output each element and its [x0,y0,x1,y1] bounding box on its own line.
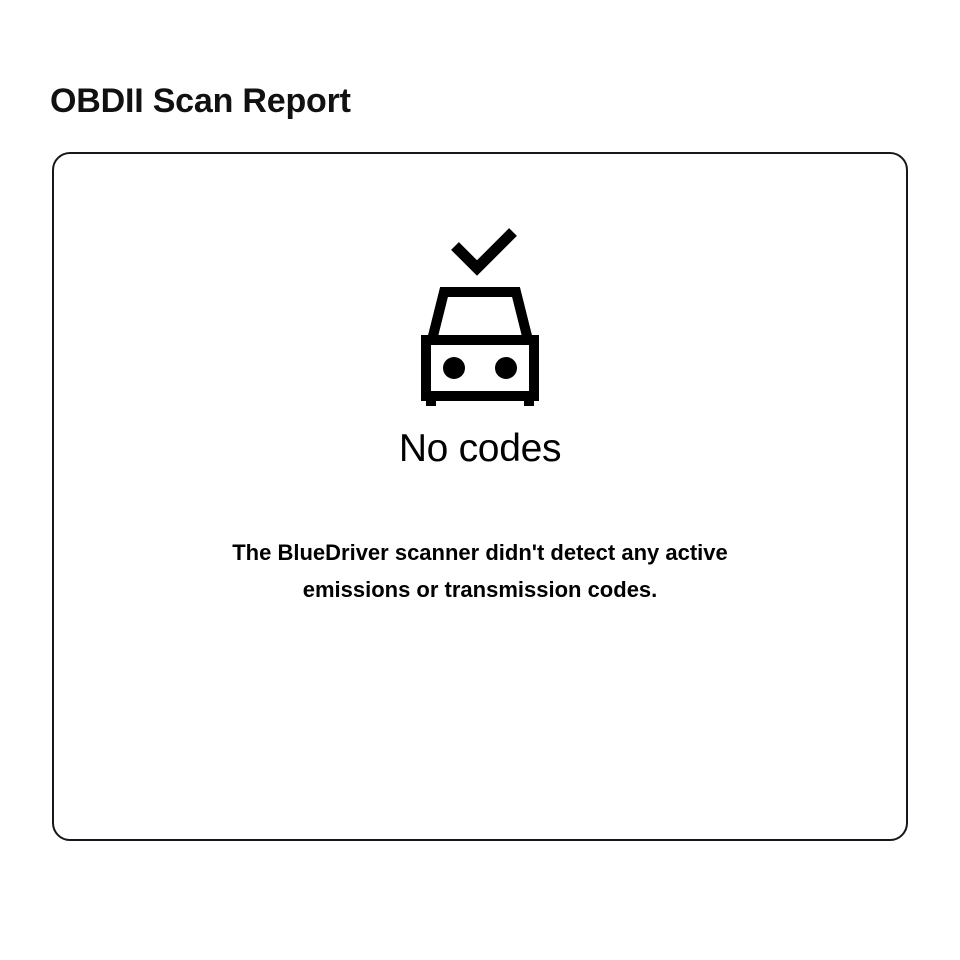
card-body: No codes The BlueDriver scanner didn't d… [54,154,906,608]
status-heading: No codes [399,426,561,472]
status-description-line-1: The BlueDriver scanner didn't detect any… [160,534,800,571]
car-with-checkmark-icon [400,226,560,406]
page-title: OBDII Scan Report [50,81,351,121]
status-description: The BlueDriver scanner didn't detect any… [160,534,800,608]
scan-report-card: No codes The BlueDriver scanner didn't d… [52,152,908,841]
status-description-line-2: emissions or transmission codes. [160,571,800,608]
report-page: OBDII Scan Report No codes The BlueDrive… [0,0,960,960]
